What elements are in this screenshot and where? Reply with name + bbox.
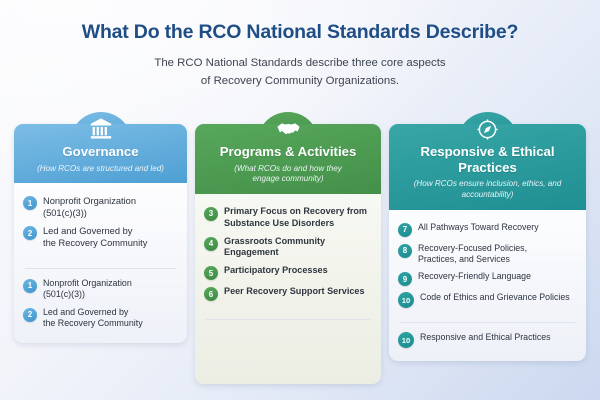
- list-item-line-1: Led and Governed by: [43, 307, 128, 317]
- list-item-label: Peer Recovery Support Services: [224, 286, 365, 298]
- list-item-label: Responsive and Ethical Practices: [420, 332, 551, 343]
- compass-icon: [473, 114, 503, 144]
- page-header: What Do the RCO National Standards Descr…: [0, 0, 600, 90]
- list-item-line-2: Practices, and Services: [418, 254, 527, 265]
- list-item-label: Led and Governed by the Recovery Communi…: [43, 225, 147, 249]
- card-subtitle-line-1: (How RCOs ensure inclusion, ethics, and: [398, 179, 577, 190]
- list-item-label: Code of Ethics and Grievance Policies: [420, 292, 570, 303]
- list-item-line-1: Nonprofit Organization: [43, 278, 132, 288]
- list-item-line-2: the Recovery Community: [43, 237, 147, 249]
- list-item[interactable]: 3 Primary Focus on Recovery from Substan…: [203, 203, 373, 233]
- card-subtitle-governance: (How RCOs are structured and led): [23, 164, 178, 175]
- card-title-line-1: Responsive & Ethical: [398, 144, 577, 160]
- page-subtitle: The RCO National Standards describe thre…: [0, 55, 600, 90]
- list-item[interactable]: 7 All Pathways Toward Recovery: [397, 219, 578, 240]
- item-number-badge: 2: [23, 308, 37, 322]
- item-number-badge: 8: [398, 244, 412, 258]
- list-item[interactable]: 5 Participatory Processes: [203, 262, 373, 283]
- item-number-badge: 2: [23, 226, 37, 240]
- card-subtitle-line-1: (What RCOs do and how they: [204, 164, 372, 175]
- list-item[interactable]: 1 Nonprofit Organization (501(c)(3)): [22, 192, 179, 222]
- list-item-label: Grassroots Community Engagement: [224, 236, 372, 260]
- item-number-badge: 7: [398, 223, 412, 237]
- card-body-responsive: 7 All Pathways Toward Recovery 8 Recover…: [389, 210, 586, 362]
- list-item[interactable]: 10 Responsive and Ethical Practices: [397, 329, 578, 351]
- list-item-line-2: the Recovery Community: [43, 318, 143, 330]
- list-item[interactable]: 9 Recovery-Friendly Language: [397, 268, 578, 289]
- card-programs-activities[interactable]: Programs & Activities (What RCOs do and …: [195, 124, 381, 384]
- subtitle-line-1: The RCO National Standards describe thre…: [0, 55, 600, 73]
- item-number-badge: 4: [204, 237, 218, 251]
- list-item-label: Recovery-Friendly Language: [418, 271, 531, 282]
- list-item-line-2: (501(c)(3)): [43, 207, 136, 219]
- card-subtitle-responsive: (How RCOs ensure inclusion, ethics, and …: [398, 179, 577, 200]
- list-item-label: Primary Focus on Recovery from Substance…: [224, 206, 372, 230]
- list-separator: [25, 268, 176, 269]
- body-filler: [203, 326, 373, 374]
- card-subtitle-line-2: accountability): [398, 190, 577, 201]
- subtitle-line-2: of Recovery Community Organizations.: [0, 73, 600, 91]
- list-item-label: Nonprofit Organization (501(c)(3)): [43, 278, 132, 301]
- list-item[interactable]: 2 Led and Governed by the Recovery Commu…: [22, 304, 179, 333]
- card-body-programs: 3 Primary Focus on Recovery from Substan…: [195, 194, 381, 384]
- list-item-line-2: (501(c)(3)): [43, 289, 132, 301]
- group-spacer: [203, 304, 373, 313]
- item-number-badge: 9: [398, 272, 412, 286]
- list-item-line-1: Led and Governed by: [43, 226, 132, 236]
- columns-container: Governance (How RCOs are structured and …: [14, 124, 586, 384]
- list-item-label: Recovery-Focused Policies, Practices, an…: [418, 243, 527, 266]
- card-subtitle-programs: (What RCOs do and how they engage commun…: [204, 164, 372, 185]
- list-item[interactable]: 6 Peer Recovery Support Services: [203, 283, 373, 304]
- list-item[interactable]: 8 Recovery-Focused Policies, Practices, …: [397, 240, 578, 269]
- list-separator: [206, 319, 370, 320]
- item-number-badge: 5: [204, 266, 218, 280]
- list-item-label: Participatory Processes: [224, 265, 328, 277]
- list-item-label: Led and Governed by the Recovery Communi…: [43, 307, 143, 330]
- group-spacer: [397, 311, 578, 316]
- card-subtitle-line-2: engage community): [204, 174, 372, 185]
- item-number-badge: 1: [23, 196, 37, 210]
- item-number-badge: 10: [398, 332, 414, 348]
- card-governance[interactable]: Governance (How RCOs are structured and …: [14, 124, 187, 343]
- list-item-label: Nonprofit Organization (501(c)(3)): [43, 195, 136, 219]
- page-title: What Do the RCO National Standards Descr…: [0, 21, 600, 44]
- list-item-line-1: Nonprofit Organization: [43, 196, 136, 206]
- card-body-governance: 1 Nonprofit Organization (501(c)(3)) 2 L…: [14, 183, 187, 343]
- item-number-badge: 3: [204, 207, 218, 221]
- list-item[interactable]: 2 Led and Governed by the Recovery Commu…: [22, 222, 179, 252]
- card-title-line-2: Practices: [398, 160, 577, 176]
- list-item[interactable]: 4 Grassroots Community Engagement: [203, 233, 373, 263]
- list-item-line-1: Recovery-Focused Policies,: [418, 243, 527, 253]
- list-item[interactable]: 1 Nonprofit Organization (501(c)(3)): [22, 275, 179, 304]
- list-group-secondary: 1 Nonprofit Organization (501(c)(3)) 2 L…: [22, 275, 179, 333]
- group-spacer: [22, 253, 179, 262]
- list-item[interactable]: 10 Code of Ethics and Grievance Policies: [397, 289, 578, 311]
- card-title-governance: Governance: [23, 144, 178, 160]
- card-title-responsive: Responsive & Ethical Practices: [398, 144, 577, 175]
- handshake-icon: [273, 114, 303, 144]
- list-item-label: All Pathways Toward Recovery: [418, 222, 539, 233]
- list-separator: [400, 322, 575, 323]
- item-number-badge: 6: [204, 287, 218, 301]
- bank-building-icon: [86, 114, 116, 144]
- item-number-badge: 10: [398, 292, 414, 308]
- item-number-badge: 1: [23, 279, 37, 293]
- card-responsive-ethical-practices[interactable]: Responsive & Ethical Practices (How RCOs…: [389, 124, 586, 361]
- card-title-programs: Programs & Activities: [204, 144, 372, 160]
